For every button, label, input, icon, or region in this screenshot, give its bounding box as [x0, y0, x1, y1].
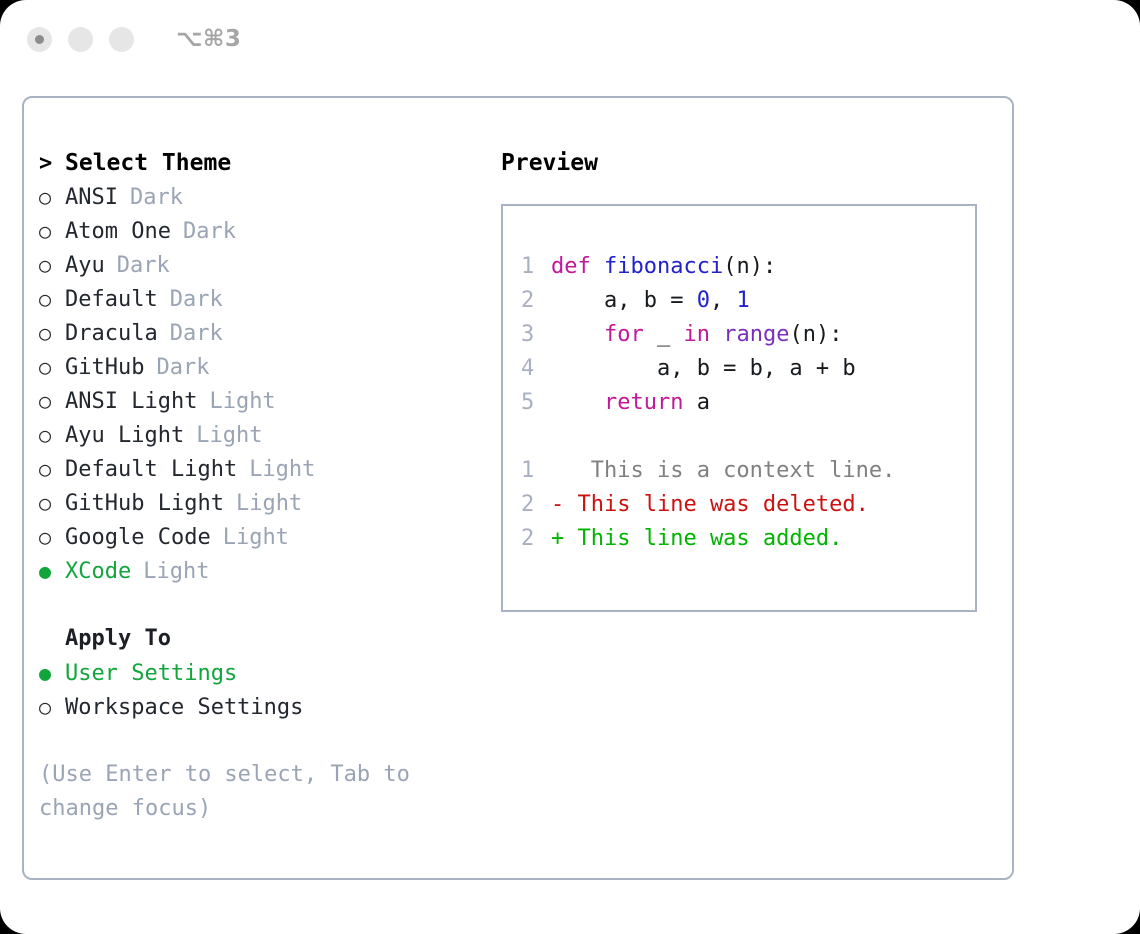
- code-token-num: 0: [697, 288, 710, 313]
- radio-unselected-icon: ○: [39, 690, 65, 724]
- keyboard-hint-text: (Use Enter to select, Tab to change focu…: [39, 758, 439, 826]
- theme-name-label: ANSI Light: [65, 389, 197, 414]
- theme-variant-label: Dark: [156, 355, 209, 380]
- code-token-txt: [551, 322, 604, 347]
- theme-name-label: ANSI: [65, 185, 118, 210]
- theme-list-item[interactable]: ○Ayu LightLight: [39, 418, 479, 452]
- select-theme-heading: >Select Theme: [39, 146, 479, 180]
- code-token-kw: for: [604, 322, 644, 347]
- code-token-num: 1: [736, 288, 749, 313]
- window-dot-1[interactable]: [27, 27, 52, 52]
- radio-unselected-icon: ○: [39, 452, 65, 486]
- theme-variant-label: Light: [236, 491, 302, 516]
- theme-list-item[interactable]: ○GitHub LightLight: [39, 486, 479, 520]
- radio-unselected-icon: ○: [39, 316, 65, 350]
- theme-name-label: XCode: [65, 559, 131, 584]
- theme-selection-column: >Select Theme ○ANSIDark○Atom OneDark○Ayu…: [39, 146, 479, 826]
- theme-name-label: Ayu: [65, 253, 105, 278]
- radio-unselected-icon: ○: [39, 350, 65, 384]
- window-dot-3[interactable]: [109, 27, 134, 52]
- theme-name-label: GitHub Light: [65, 491, 224, 516]
- radio-unselected-icon: ○: [39, 214, 65, 248]
- radio-selected-icon: ●: [39, 554, 65, 588]
- theme-variant-label: Light: [249, 457, 315, 482]
- theme-list-item[interactable]: ○DraculaDark: [39, 316, 479, 350]
- diff-line: 2+ This line was added.: [521, 522, 975, 556]
- section-spacer: [39, 588, 479, 622]
- code-token-txt: a, b =: [551, 288, 697, 313]
- line-number: 1: [521, 250, 551, 284]
- theme-list-item[interactable]: ○Google CodeLight: [39, 520, 479, 554]
- theme-list-item[interactable]: ○ANSIDark: [39, 180, 479, 214]
- theme-variant-label: Dark: [170, 321, 223, 346]
- select-theme-heading-label: Select Theme: [65, 150, 231, 176]
- code-blank-line: [521, 420, 975, 454]
- theme-variant-label: Light: [196, 423, 262, 448]
- theme-variant-label: Dark: [183, 219, 236, 244]
- line-number: 3: [521, 318, 551, 352]
- code-line: 2 a, b = 0, 1: [521, 284, 975, 318]
- code-line: 4 a, b = b, a + b: [521, 352, 975, 386]
- preview-heading: Preview: [501, 146, 1001, 180]
- theme-variant-label: Light: [209, 389, 275, 414]
- radio-unselected-icon: ○: [39, 248, 65, 282]
- diff-text-ctx: This is a context line.: [551, 458, 895, 483]
- line-number: 5: [521, 386, 551, 420]
- code-line: 1def fibonacci(n):: [521, 250, 975, 284]
- code-token-txt: [551, 390, 604, 415]
- theme-name-label: Dracula: [65, 321, 158, 346]
- theme-name-label: Google Code: [65, 525, 211, 550]
- diff-line: 2- This line was deleted.: [521, 488, 975, 522]
- theme-list-item[interactable]: ●XCodeLight: [39, 554, 479, 588]
- theme-name-label: Ayu Light: [65, 423, 184, 448]
- code-token-call: range: [723, 322, 789, 347]
- theme-name-label: Default Light: [65, 457, 237, 482]
- code-token-txt: _: [644, 322, 684, 347]
- line-number: 4: [521, 352, 551, 386]
- apply-to-option[interactable]: ○Workspace Settings: [39, 690, 479, 724]
- code-line: 5 return a: [521, 386, 975, 420]
- radio-unselected-icon: ○: [39, 418, 65, 452]
- theme-variant-label: Light: [223, 525, 289, 550]
- theme-name-label: Atom One: [65, 219, 171, 244]
- theme-list-item[interactable]: ○ANSI LightLight: [39, 384, 479, 418]
- radio-selected-icon: ●: [39, 656, 65, 690]
- app-window: ⌥⌘3 >Select Theme ○ANSIDark○Atom OneDark…: [0, 0, 1140, 934]
- code-token-txt: ,: [710, 288, 737, 313]
- line-number: 1: [521, 454, 551, 488]
- code-token-kw: return: [604, 390, 683, 415]
- theme-list-item[interactable]: ○Default LightLight: [39, 452, 479, 486]
- code-token-txt: a, b = b, a + b: [551, 356, 856, 381]
- code-preview-panel: 1def fibonacci(n):2 a, b = 0, 13 for _ i…: [501, 204, 977, 612]
- theme-variant-label: Light: [143, 559, 209, 584]
- title-bar: ⌥⌘3: [0, 0, 1140, 78]
- theme-variant-label: Dark: [170, 287, 223, 312]
- code-token-txt: (n):: [789, 322, 842, 347]
- radio-unselected-icon: ○: [39, 486, 65, 520]
- radio-unselected-icon: ○: [39, 180, 65, 214]
- theme-name-label: GitHub: [65, 355, 144, 380]
- code-token-kw: def: [551, 254, 604, 279]
- radio-unselected-icon: ○: [39, 282, 65, 316]
- preview-column: Preview 1def fibonacci(n):2 a, b = 0, 13…: [501, 146, 1001, 612]
- code-sample: 1def fibonacci(n):2 a, b = 0, 13 for _ i…: [521, 250, 975, 420]
- code-line: 3 for _ in range(n):: [521, 318, 975, 352]
- diff-sample: 1 This is a context line.2- This line wa…: [521, 454, 975, 556]
- diff-text-add: + This line was added.: [551, 526, 842, 551]
- diff-line: 1 This is a context line.: [521, 454, 975, 488]
- theme-variant-label: Dark: [130, 185, 183, 210]
- line-number: 2: [521, 522, 551, 556]
- theme-list-item[interactable]: ○AyuDark: [39, 248, 479, 282]
- window-dot-2[interactable]: [68, 27, 93, 52]
- theme-list-item[interactable]: ○DefaultDark: [39, 282, 479, 316]
- radio-unselected-icon: ○: [39, 520, 65, 554]
- code-token-fn: fibonacci: [604, 254, 723, 279]
- theme-list-item[interactable]: ○GitHubDark: [39, 350, 479, 384]
- line-number: 2: [521, 284, 551, 318]
- code-token-txt: a: [683, 390, 710, 415]
- code-token-txt: (n):: [723, 254, 776, 279]
- prompt-caret-icon: >: [39, 147, 65, 181]
- content-panel: >Select Theme ○ANSIDark○Atom OneDark○Ayu…: [22, 96, 1014, 880]
- theme-variant-label: Dark: [117, 253, 170, 278]
- apply-to-label: User Settings: [65, 661, 237, 686]
- diff-text-del: - This line was deleted.: [551, 492, 869, 517]
- code-token-kw: in: [683, 322, 710, 347]
- apply-to-option[interactable]: ●User Settings: [39, 656, 479, 690]
- apply-to-heading: Apply To: [39, 622, 479, 656]
- radio-unselected-icon: ○: [39, 384, 65, 418]
- line-number: 2: [521, 488, 551, 522]
- keyboard-shortcut-label: ⌥⌘3: [176, 26, 241, 52]
- apply-to-list: ●User Settings○Workspace Settings: [39, 656, 479, 724]
- theme-name-label: Default: [65, 287, 158, 312]
- apply-to-label: Workspace Settings: [65, 695, 303, 720]
- theme-list-item[interactable]: ○Atom OneDark: [39, 214, 479, 248]
- code-token-txt: [710, 322, 723, 347]
- theme-list: ○ANSIDark○Atom OneDark○AyuDark○DefaultDa…: [39, 180, 479, 588]
